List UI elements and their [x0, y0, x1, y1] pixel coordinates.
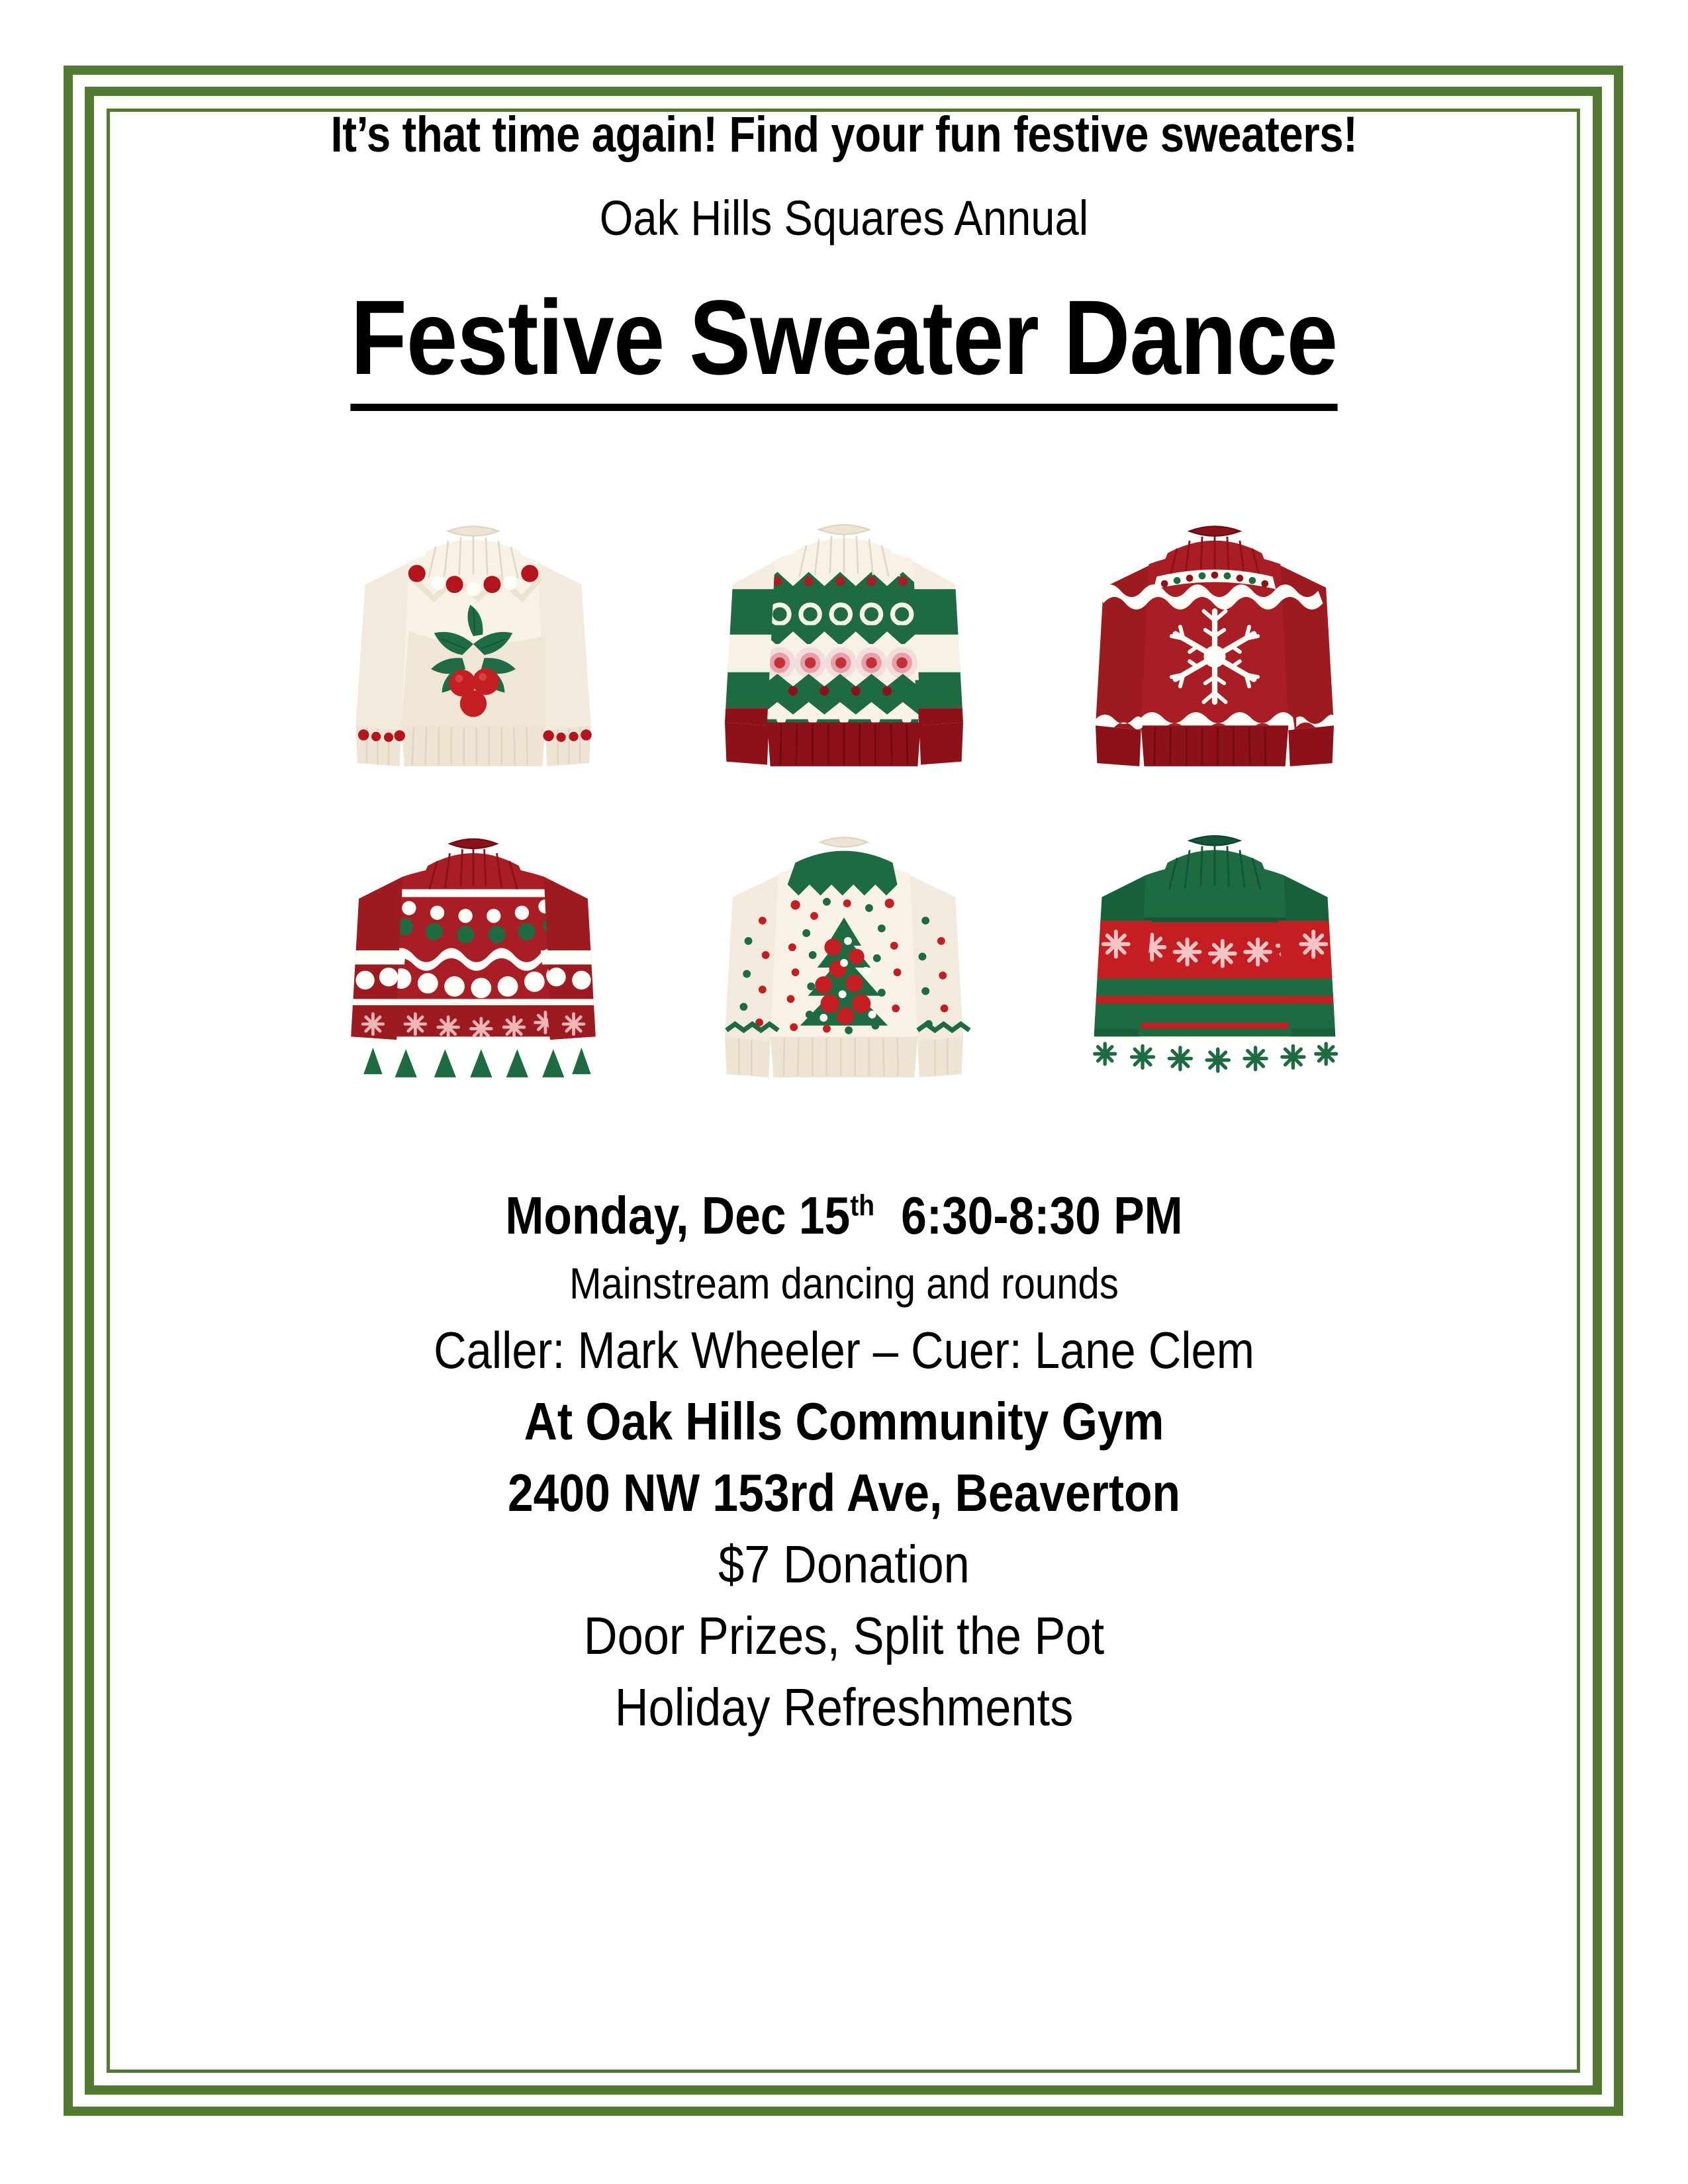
tagline-text: It’s that time again! Find your fun fest…: [204, 93, 1485, 163]
page-title: Festive Sweater Dance: [196, 246, 1492, 411]
cream-holly-berry-sweater: [311, 490, 635, 788]
fair-isle-green-sweater: [682, 490, 1006, 788]
sweater-illustration-grid: [288, 411, 1400, 1106]
event-details: Monday, Dec 15th6:30-8:30 PM Mainstream …: [99, 1106, 1589, 1738]
venue-name-text: At Oak Hills Community Gym: [196, 1391, 1492, 1463]
donation-amount-text: $7 Donation: [189, 1534, 1499, 1606]
caller-cuer-text: Caller: Mark Wheeler – Cuer: Lane Clem: [189, 1320, 1499, 1391]
red-christmas-tree-band-sweater: [311, 801, 635, 1099]
dance-style-text: Mainstream dancing and rounds: [189, 1258, 1499, 1320]
refreshments-text: Holiday Refreshments: [189, 1677, 1499, 1738]
red-snowflake-sweater: [1053, 490, 1377, 788]
venue-address-text: 2400 NW 153rd Ave, Beaverton: [196, 1463, 1492, 1534]
organization-subtitle: Oak Hills Squares Annual: [189, 163, 1499, 246]
flyer-page: It’s that time again! Find your fun fest…: [0, 0, 1688, 2184]
date-ordinal-suffix: th: [850, 1189, 874, 1222]
cream-christmas-tree-sweater: [682, 801, 1006, 1099]
event-datetime: Monday, Dec 15th6:30-8:30 PM: [196, 1185, 1492, 1258]
flyer-content: It’s that time again! Find your fun fest…: [99, 93, 1589, 2091]
event-time: 6:30-8:30 PM: [901, 1186, 1183, 1245]
door-prizes-text: Door Prizes, Split the Pot: [189, 1606, 1499, 1677]
page-title-underlined: Festive Sweater Dance: [351, 277, 1338, 411]
green-snowflake-band-sweater: [1053, 801, 1377, 1099]
event-date: Monday, Dec 15: [505, 1186, 850, 1245]
